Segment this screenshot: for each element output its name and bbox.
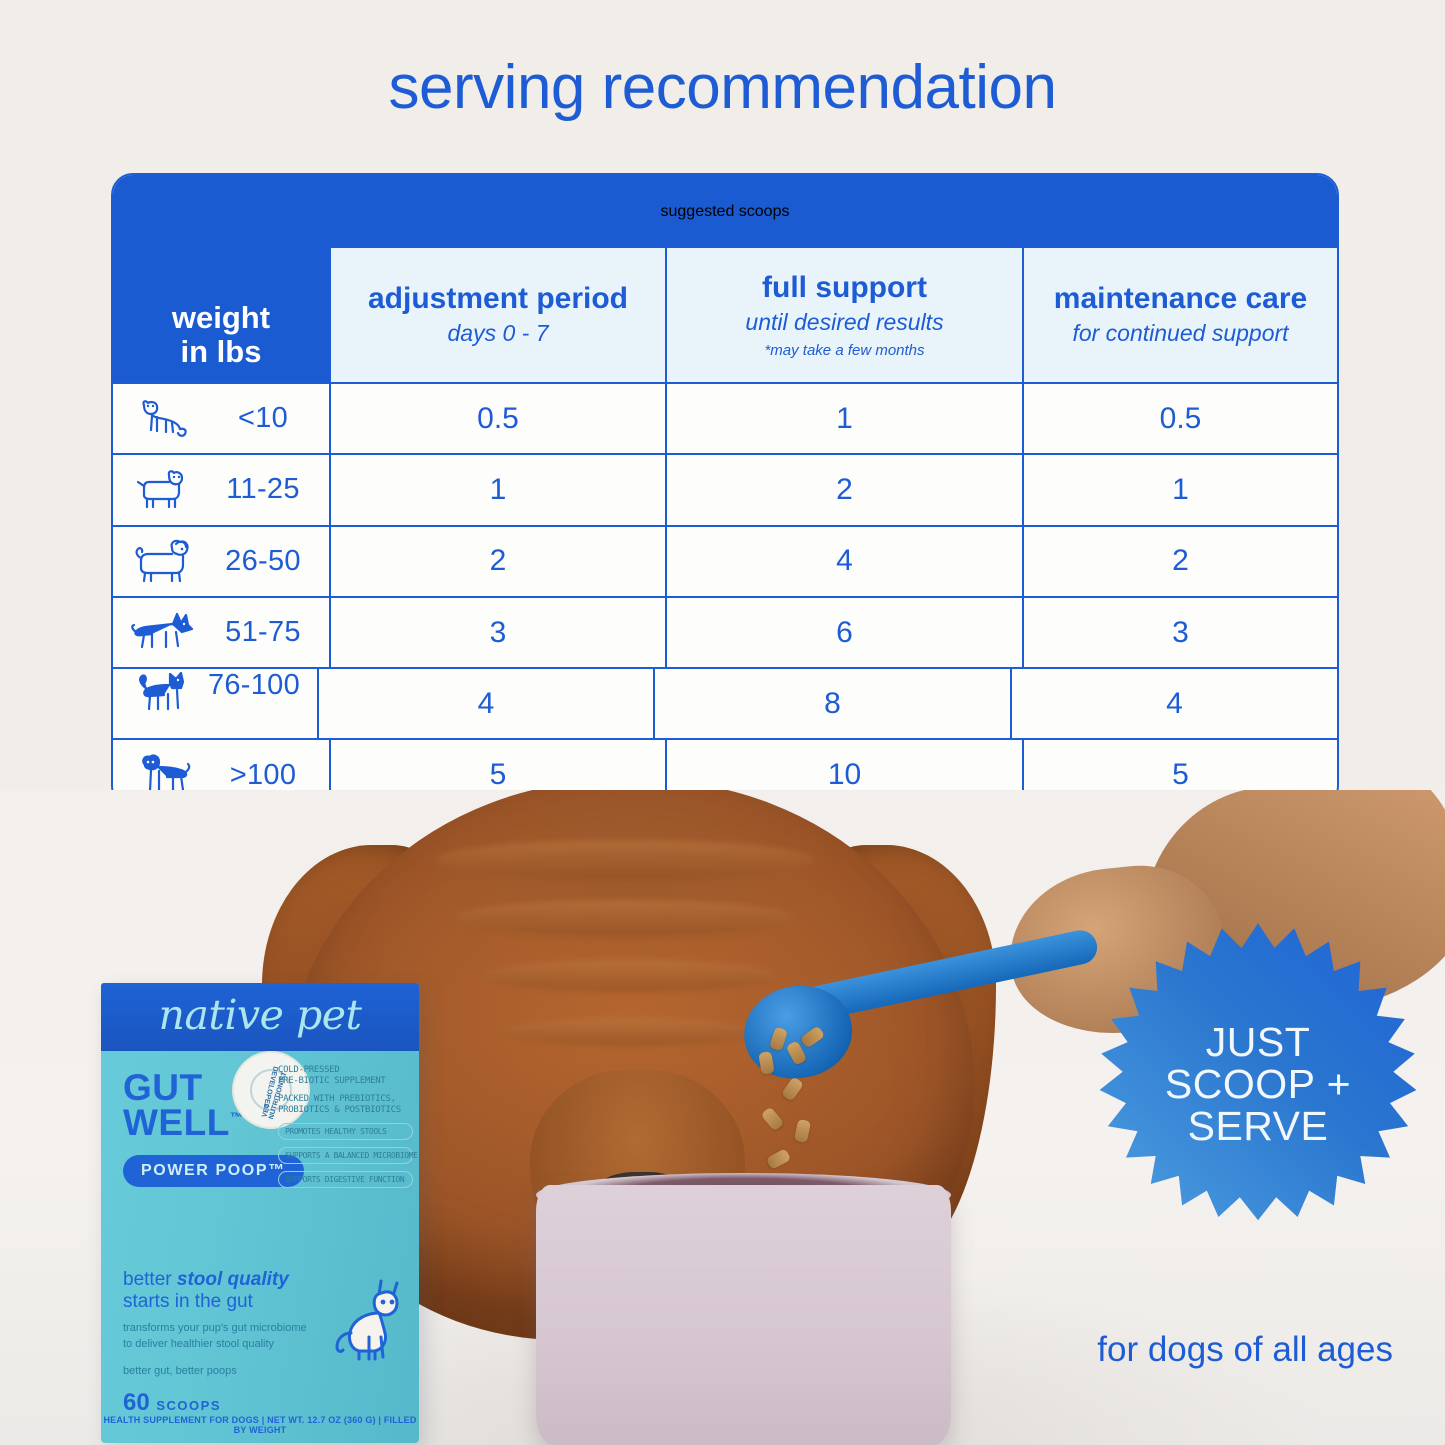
header-maintenance-care: maintenance care for continued support <box>1022 248 1337 382</box>
bag-chip: SUPPORTS DIGESTIVE FUNCTION <box>278 1171 413 1188</box>
small-dog-icon <box>127 394 199 444</box>
terrier-dog-icon <box>127 465 199 515</box>
maintenance-value: 4 <box>1010 669 1337 738</box>
claim-line1-a: better <box>123 1269 177 1290</box>
adjustment-value: 2 <box>329 527 665 596</box>
just-scoop-serve-badge: JUST SCOOP + SERVE <box>1093 920 1423 1250</box>
header-adjustment-subtitle: days 0 - 7 <box>448 319 549 349</box>
weight-label: 76-100 <box>199 669 317 738</box>
weight-cell: <10 <box>113 384 329 453</box>
maintenance-value: 1 <box>1022 455 1337 524</box>
page-title: serving recommendation <box>0 52 1445 123</box>
adjustment-value: 0.5 <box>329 384 665 453</box>
bag-chip: SUPPORTS A BALANCED MICROBIOME <box>278 1147 413 1164</box>
product-bag: native pet GUT WELL™ POWER POOP™ VET NUT… <box>101 983 419 1443</box>
header-full-title: full support <box>762 270 927 305</box>
header-full-subtitle: until desired results <box>745 308 943 338</box>
header-maintenance-title: maintenance care <box>1054 281 1307 316</box>
power-poop-pill: POWER POOP™ <box>123 1155 304 1187</box>
maintenance-value: 2 <box>1022 527 1337 596</box>
weight-cell: 26-50 <box>113 527 329 596</box>
badge-line1: JUST <box>1206 1022 1311 1064</box>
full-support-value: 1 <box>665 384 1022 453</box>
adjustment-value: 3 <box>329 598 665 667</box>
table-row: <10 0.5 1 0.5 <box>113 382 1337 453</box>
badge-line2: SCOOP + <box>1165 1064 1351 1106</box>
full-support-value: 6 <box>665 598 1022 667</box>
maintenance-value: 3 <box>1022 598 1337 667</box>
table-row: 76-100 4 8 4 <box>113 667 1337 738</box>
scoops-label: SCOOPS <box>156 1398 221 1413</box>
weight-label: 11-25 <box>205 473 329 506</box>
pooping-dog-icon <box>329 1275 405 1368</box>
header-weight-line2: in lbs <box>181 335 262 368</box>
bullet-line: COLD-PRESSED <box>278 1065 413 1076</box>
table-band-label: suggested scoops <box>661 203 790 221</box>
full-support-value: 8 <box>653 669 1010 738</box>
table-band: suggested scoops <box>113 175 1337 248</box>
header-adjustment-period: adjustment period days 0 - 7 <box>329 248 665 382</box>
bag-top-band: native pet <box>101 983 419 1051</box>
bag-chip: PROMOTES HEALTHY STOOLS <box>278 1123 413 1140</box>
full-support-value: 2 <box>665 455 1022 524</box>
table-header-row: weight in lbs adjustment period days 0 -… <box>113 248 1337 382</box>
brand-name: native pet <box>159 991 362 1039</box>
bullet-line: PACKED WITH PREBIOTICS, <box>278 1094 413 1105</box>
badge-line3: SERVE <box>1188 1106 1329 1148</box>
shepherd-dog-icon <box>127 608 199 658</box>
product-name-line1: GUT <box>123 1071 243 1106</box>
header-full-support: full support until desired results *may … <box>665 248 1022 382</box>
weight-label: 26-50 <box>205 545 329 578</box>
product-name-line2: WELL <box>123 1102 230 1143</box>
bag-subtext-line1: transforms your pup's gut microbiome <box>123 1321 307 1337</box>
maintenance-value: 0.5 <box>1022 384 1337 453</box>
adjustment-value: 4 <box>317 669 653 738</box>
footer-tagline: for dogs of all ages <box>1097 1330 1393 1370</box>
product-name: GUT WELL™ <box>123 1071 243 1141</box>
bag-subtext: transforms your pup's gut microbiome to … <box>123 1321 307 1353</box>
header-adjustment-title: adjustment period <box>368 281 628 316</box>
bag-subtext-line2: to deliver healthier stool quality <box>123 1337 307 1353</box>
header-weight-cell: weight in lbs <box>113 248 329 382</box>
weight-label: <10 <box>205 402 329 435</box>
table-row: 11-25 1 2 1 <box>113 453 1337 524</box>
weight-cell: 51-75 <box>113 598 329 667</box>
bag-scoop-count: 60 SCOOPS <box>123 1389 221 1417</box>
table-row: 51-75 3 6 3 <box>113 596 1337 667</box>
weight-label: 51-75 <box>205 616 329 649</box>
serving-recommendation-page: serving recommendation suggested scoops … <box>0 0 1445 1445</box>
scoops-count: 60 <box>123 1389 150 1416</box>
weight-label: >100 <box>205 759 329 792</box>
claim-line2: starts in the gut <box>123 1291 289 1313</box>
full-support-value: 4 <box>665 527 1022 596</box>
header-maintenance-subtitle: for continued support <box>1072 319 1288 349</box>
poodle-dog-icon <box>127 536 199 586</box>
dog-bowl <box>536 1185 951 1445</box>
claim-line1-b: stool quality <box>177 1269 289 1290</box>
husky-dog-icon <box>127 669 199 719</box>
bullet-line: PROBIOTICS & POSTBIOTICS <box>278 1105 413 1116</box>
badge-text: JUST SCOOP + SERVE <box>1093 920 1423 1250</box>
table-row: 26-50 2 4 2 <box>113 525 1337 596</box>
bag-footer-text: HEALTH SUPPLEMENT FOR DOGS | NET WT. 12.… <box>101 1415 419 1435</box>
weight-cell: 11-25 <box>113 455 329 524</box>
suggested-scoops-table: suggested scoops weight in lbs adjustmen… <box>111 173 1339 808</box>
header-full-note: *may take a few months <box>764 341 924 361</box>
bag-subtext-line3: better gut, better poops <box>123 1365 237 1377</box>
bag-claim: better stool quality starts in the gut <box>123 1269 289 1314</box>
header-weight-line1: weight <box>172 301 270 334</box>
table-body: <10 0.5 1 0.5 <box>113 382 1337 806</box>
adjustment-value: 1 <box>329 455 665 524</box>
bag-bullets: COLD-PRESSED PRE-BIOTIC SUPPLEMENT PACKE… <box>278 1065 413 1188</box>
bullet-line: PRE-BIOTIC SUPPLEMENT <box>278 1076 413 1087</box>
